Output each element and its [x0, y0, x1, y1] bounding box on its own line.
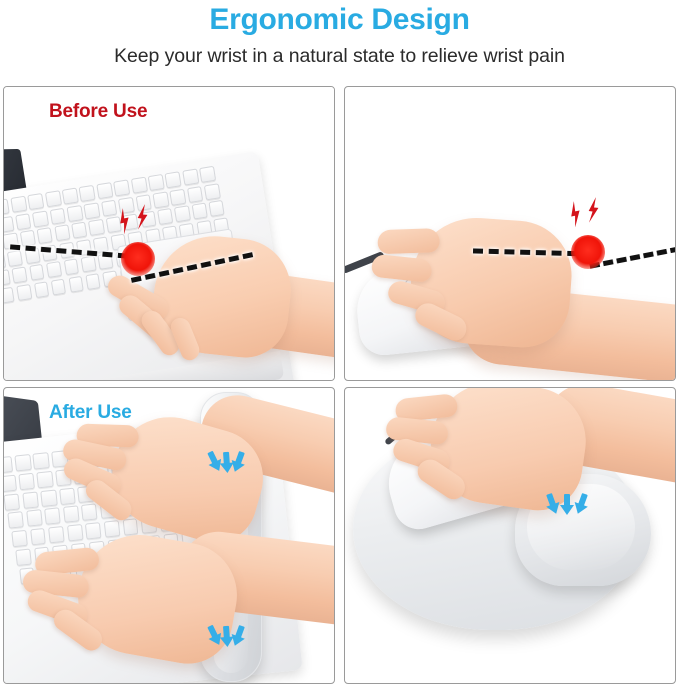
- wrist-angle-line-left: [10, 244, 128, 258]
- key: [3, 493, 20, 511]
- key: [81, 504, 98, 521]
- key: [3, 474, 17, 492]
- key: [3, 456, 13, 474]
- pain-point-icon: [571, 235, 605, 269]
- key: [44, 508, 61, 525]
- panel-after-keyboard: After Use: [3, 387, 335, 684]
- comparison-grid: Before Use: [3, 86, 676, 684]
- key: [7, 512, 24, 529]
- key: [15, 549, 31, 566]
- pain-point-icon: [121, 242, 155, 276]
- key: [14, 454, 32, 472]
- pain-bolt-icon: [135, 203, 151, 230]
- key: [67, 524, 83, 541]
- key: [36, 471, 53, 489]
- pain-annotation-before-keyboard: [4, 87, 335, 381]
- panel-after-mouse: [344, 387, 676, 684]
- key: [59, 487, 76, 505]
- key: [32, 452, 50, 470]
- key: [26, 510, 43, 527]
- key: [40, 489, 57, 507]
- scene-before-mouse: [345, 87, 675, 380]
- key: [122, 518, 138, 535]
- pain-bolt-icon: [566, 200, 584, 228]
- page-title: Ergonomic Design: [209, 3, 469, 37]
- pain-bolt-icon: [586, 196, 602, 223]
- pain-bolt-icon: [115, 207, 133, 235]
- badge-before-use: Before Use: [49, 101, 147, 123]
- key: [11, 530, 27, 547]
- panel-before-mouse: [344, 86, 676, 381]
- finger: [385, 416, 449, 445]
- key: [18, 473, 35, 491]
- page-subtitle: Keep your wrist in a natural state to re…: [114, 43, 565, 69]
- scene-after-mouse: [345, 388, 675, 683]
- header: Ergonomic Design Keep your wrist in a na…: [0, 0, 679, 80]
- key: [63, 506, 80, 523]
- panel-before-keyboard: Before Use: [3, 86, 335, 381]
- badge-after-use: After Use: [49, 402, 132, 424]
- key: [48, 526, 64, 543]
- scene-after-keyboard: [4, 388, 334, 683]
- pain-annotation-before-mouse: [345, 87, 676, 381]
- infographic-page: Ergonomic Design Keep your wrist in a na…: [0, 0, 679, 688]
- key: [85, 522, 101, 539]
- key: [22, 491, 39, 509]
- key: [30, 528, 46, 545]
- scene-before-keyboard: [4, 87, 334, 380]
- key: [104, 520, 120, 537]
